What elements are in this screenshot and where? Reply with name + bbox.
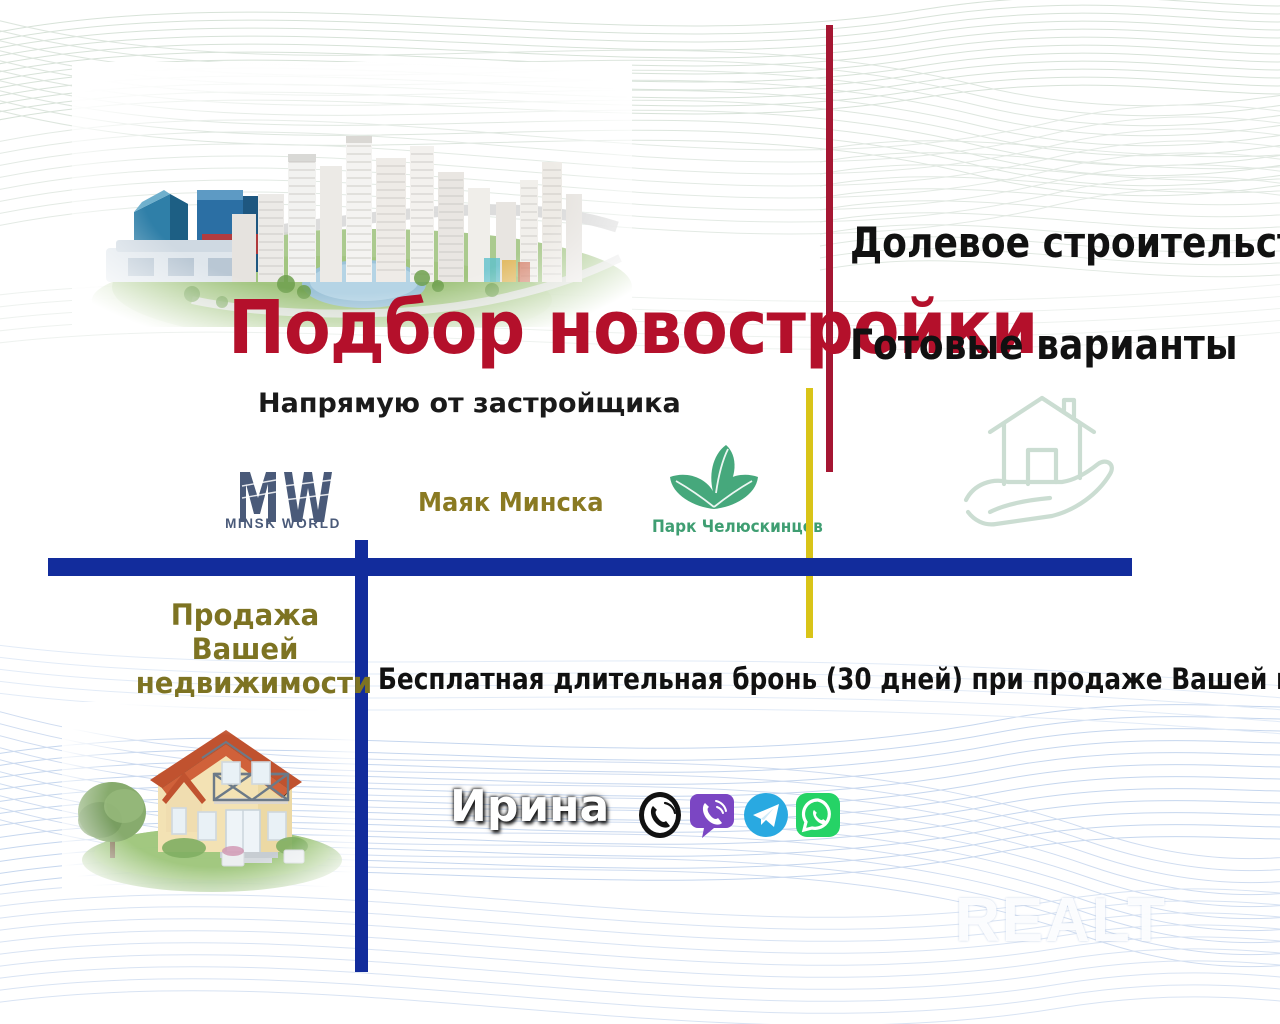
minsk-world-label: MINSK WORLD bbox=[198, 516, 368, 531]
offer-ready-options: Готовые варианты bbox=[850, 320, 1237, 369]
sell-property-line1: Продажа Вашей bbox=[136, 598, 355, 666]
page-subtitle: Напрямую от застройщика bbox=[258, 388, 681, 419]
telegram-icon[interactable] bbox=[742, 790, 790, 840]
divider-crimson-vertical bbox=[826, 25, 833, 472]
house-in-hand-icon bbox=[952, 392, 1132, 537]
offer-shared-construction: Долевое строительство bbox=[850, 218, 1280, 267]
agent-name: Ирина bbox=[450, 781, 609, 832]
advertisement-poster: MINSK WORLD Маяк Минска Парк Челюскинцев… bbox=[0, 0, 1280, 1024]
promo-free-reservation: Бесплатная длительная бронь (30 дней) пр… bbox=[378, 662, 1280, 696]
park-chelyuskintsev-label: Парк Челюскинцев bbox=[652, 517, 778, 537]
sell-property-line2: недвижимости bbox=[136, 666, 355, 700]
whatsapp-icon[interactable] bbox=[794, 790, 842, 840]
phone-icon[interactable] bbox=[636, 790, 684, 840]
viber-icon[interactable] bbox=[688, 790, 736, 840]
divider-gold-vertical bbox=[806, 388, 813, 638]
cottage-photo bbox=[62, 702, 362, 892]
divider-blue-horizontal bbox=[48, 558, 1132, 576]
sell-property-heading: Продажа Вашей недвижимости bbox=[136, 598, 355, 701]
leaf-logo-icon bbox=[664, 443, 764, 511]
mayak-minska-logo: Маяк Минска bbox=[418, 488, 604, 518]
realt-watermark: REALT bbox=[955, 885, 1167, 956]
contact-icons-row bbox=[632, 788, 842, 844]
divider-blue-vertical bbox=[355, 540, 368, 972]
